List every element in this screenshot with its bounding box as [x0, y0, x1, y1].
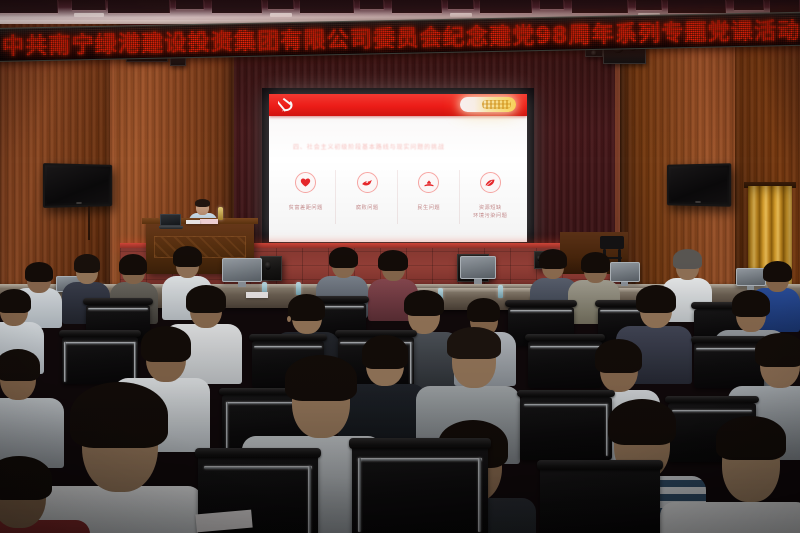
auditorium-photo: 中共南宁绿港建设投资集团有限公司委员会纪念建党98周年系列专题党课活动 四、社会	[0, 0, 800, 533]
slide-ribbon-graphic	[460, 97, 516, 112]
slide-item-label2: 环境污染问题	[463, 212, 517, 220]
ceiling-light	[270, 13, 292, 17]
left-wall-tv[interactable]	[43, 163, 112, 208]
audience-chair[interactable]	[528, 334, 602, 388]
slide-item-2: 民生问题	[402, 172, 456, 212]
hand-house-icon	[418, 172, 439, 193]
slide-item-3: 资源短缺 环境污染问题	[463, 172, 517, 220]
audience-chair[interactable]	[694, 336, 764, 388]
slide-canvas: 四、社会主义初级阶段基本路线与现实问题的挑战 贫富差距问题	[269, 94, 527, 242]
water-bottle	[218, 207, 223, 220]
slide-item-label: 贫富差距问题	[279, 204, 333, 212]
slide-item-1: 腐败问题	[340, 172, 394, 212]
water-bottle	[498, 285, 503, 298]
leaf-icon	[480, 172, 501, 193]
dove-icon	[357, 172, 378, 193]
slide-header-bar	[269, 94, 527, 116]
podium-papers	[200, 219, 218, 224]
slide-item-list: 贫富差距问题 腐败问题	[275, 172, 521, 220]
slide-item-label: 资源短缺	[463, 204, 517, 212]
slide-item-label: 民生问题	[402, 204, 456, 212]
imac-desktop[interactable]	[460, 256, 496, 286]
floor-monitor-speaker	[260, 256, 282, 281]
imac-desktop[interactable]	[222, 258, 262, 288]
audience-chair[interactable]	[62, 330, 138, 384]
cpc-hammer-sickle-emblem	[278, 95, 298, 117]
audience-chair[interactable]	[352, 438, 488, 533]
heart-icon	[295, 172, 316, 193]
slide-item-label: 腐败问题	[340, 204, 394, 212]
right-wall-tv[interactable]	[667, 163, 731, 207]
slide-title: 四、社会主义初级阶段基本路线与现实问题的挑战	[293, 142, 507, 151]
presenter-laptop[interactable]	[160, 214, 182, 230]
podium-papers	[186, 220, 200, 224]
ceiling-light	[450, 13, 472, 17]
water-bottle	[296, 282, 301, 295]
ceiling-light	[74, 13, 104, 17]
desk-papers	[246, 292, 268, 298]
slide-item-0: 贫富差距问题	[279, 172, 333, 212]
projection-screen: 四、社会主义初级阶段基本路线与现实问题的挑战 贫富差距问题	[262, 88, 534, 248]
audience-chair[interactable]	[520, 390, 612, 460]
audience-chair[interactable]	[540, 460, 660, 533]
tv-cable	[88, 206, 90, 240]
